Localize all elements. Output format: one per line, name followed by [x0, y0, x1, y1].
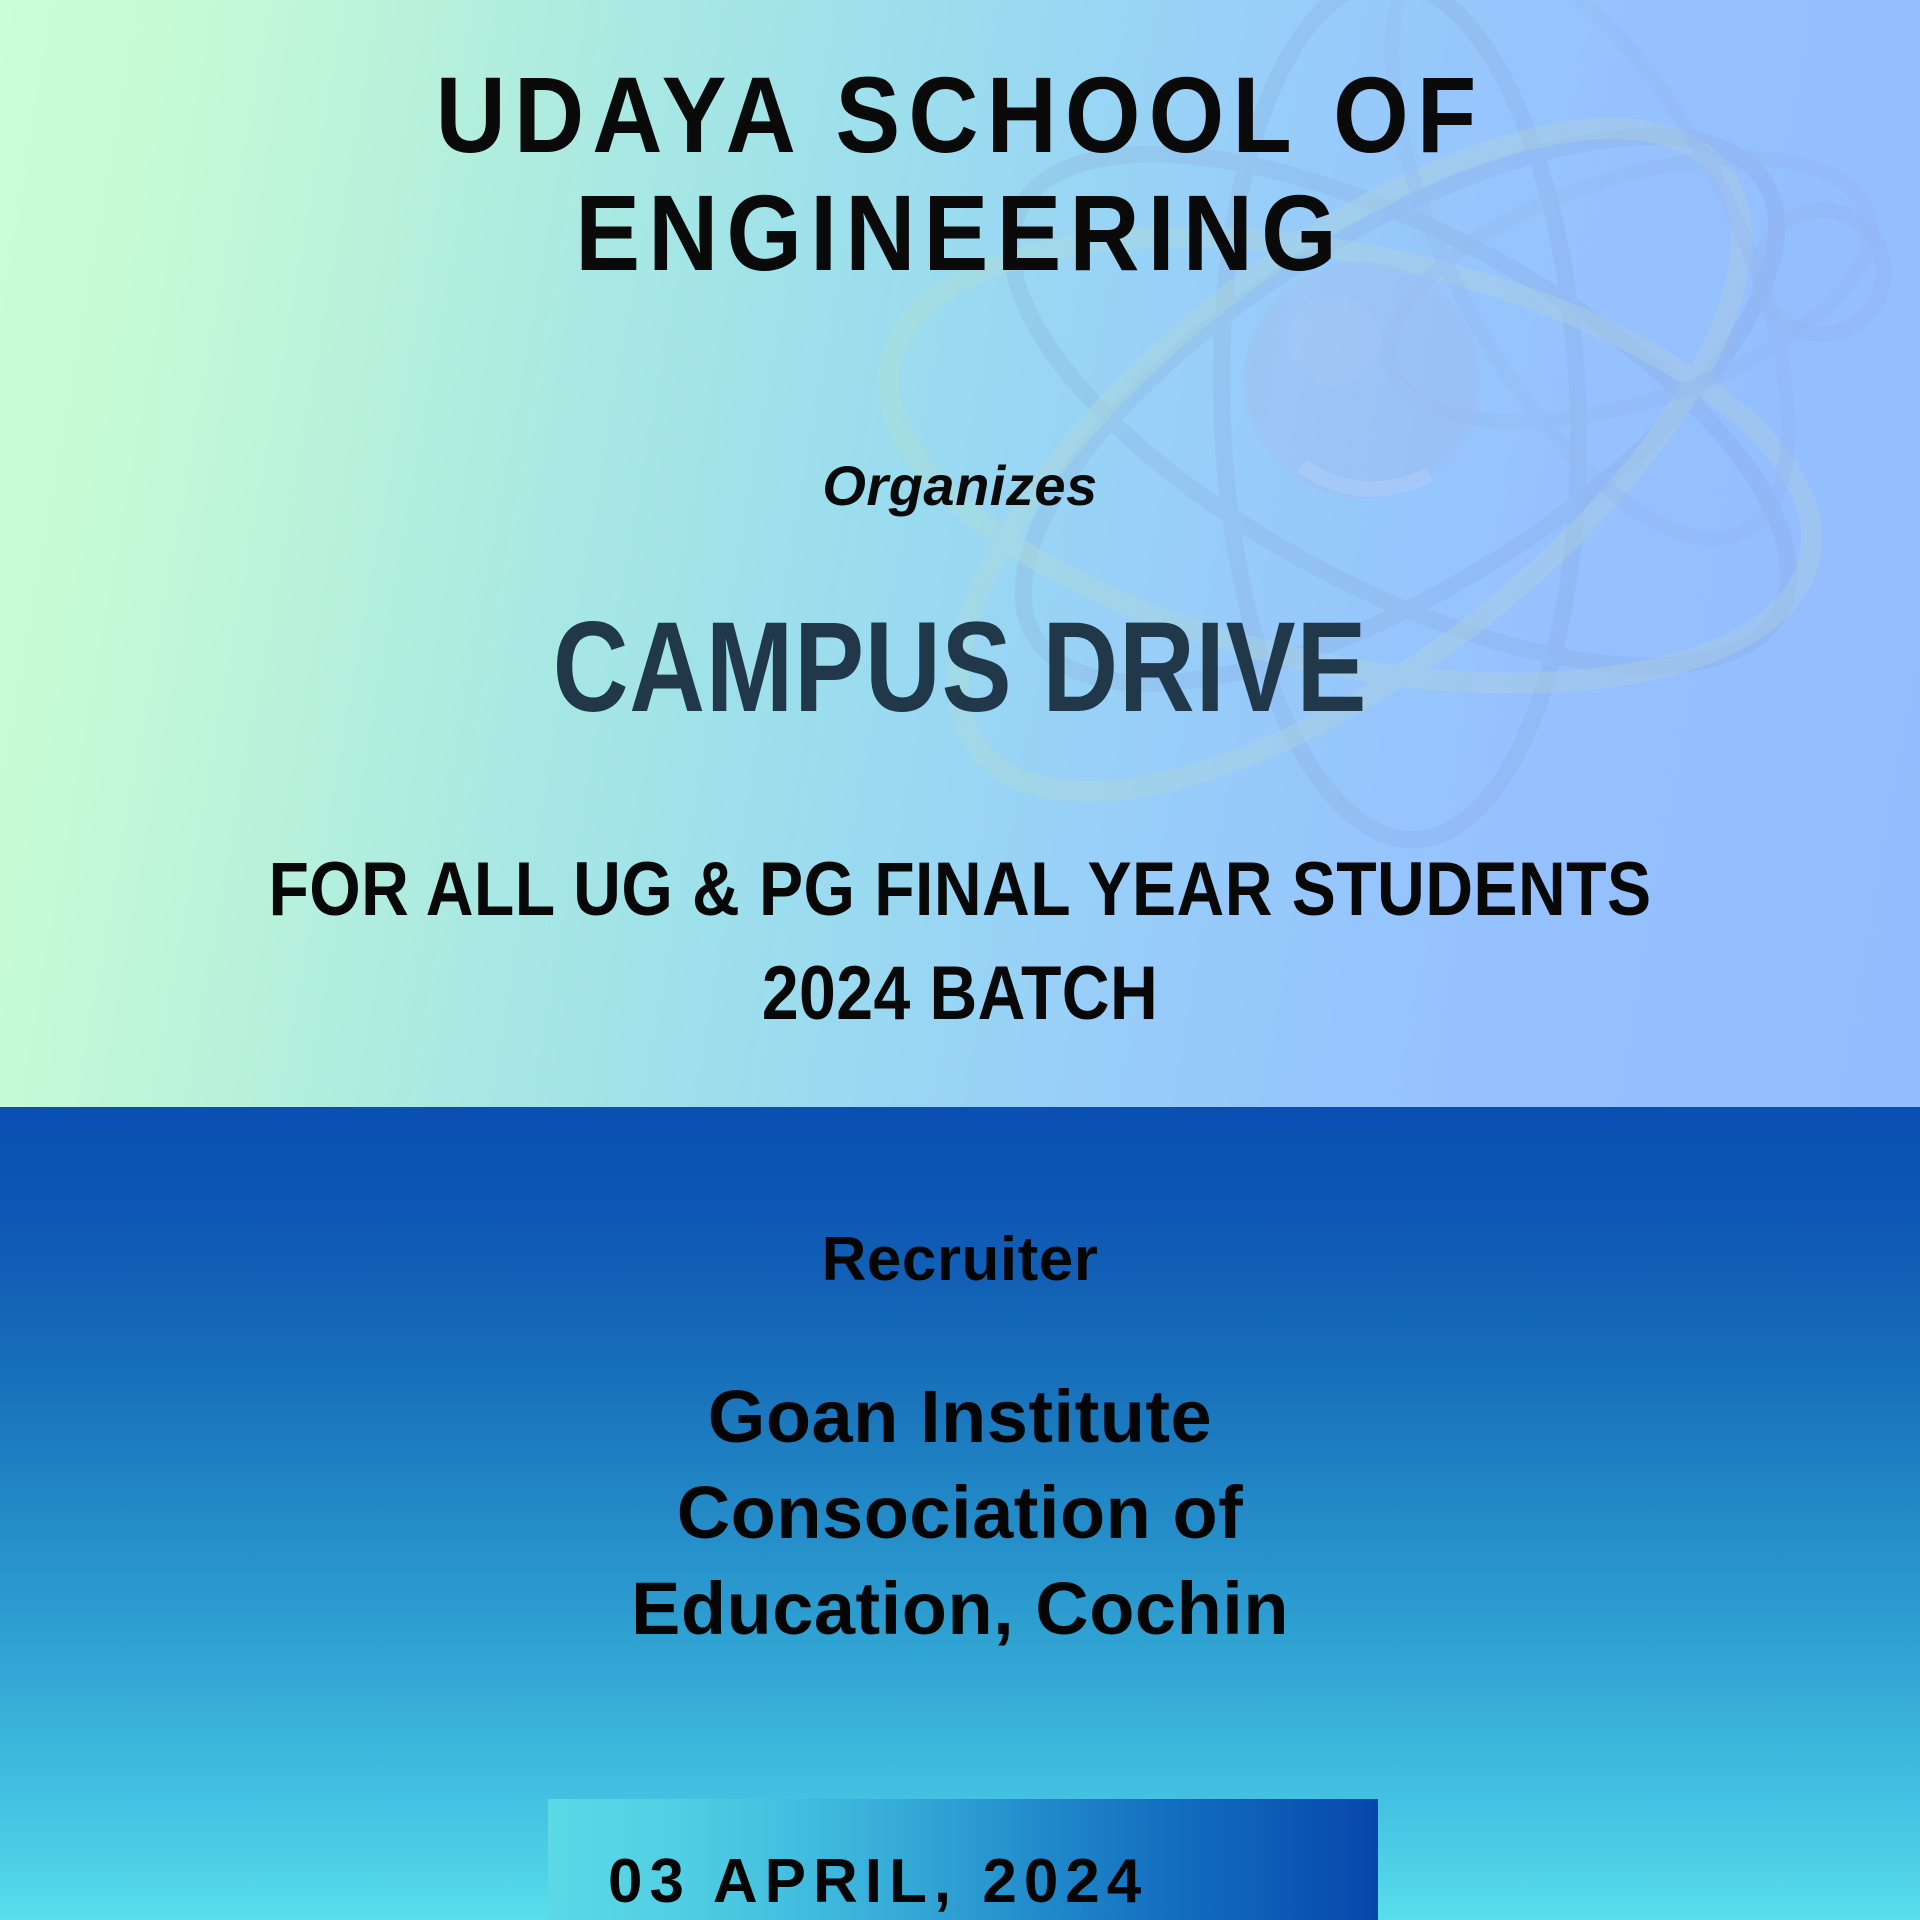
page-title: UDAYA SCHOOL OF ENGINEERING [96, 56, 1824, 292]
top-content: UDAYA SCHOOL OF ENGINEERING Organizes CA… [0, 0, 1920, 1107]
eligibility-text: FOR ALL UG & PG FINAL YEAR STUDENTS 2024… [125, 838, 1795, 1046]
campus-drive-poster: UDAYA SCHOOL OF ENGINEERING Organizes CA… [0, 0, 1920, 1920]
event-date: 03 APRIL, 2024 [608, 1849, 1148, 1915]
recruiter-name: Goan Institute Consociation of Education… [0, 1369, 1920, 1657]
poster-top-section: UDAYA SCHOOL OF ENGINEERING Organizes CA… [0, 0, 1920, 1107]
recruiter-label: Recruiter [0, 1225, 1920, 1295]
date-banner: 03 APRIL, 2024 [548, 1799, 1378, 1920]
event-title: CAMPUS DRIVE [173, 600, 1747, 736]
organizes-label: Organizes [0, 455, 1920, 517]
